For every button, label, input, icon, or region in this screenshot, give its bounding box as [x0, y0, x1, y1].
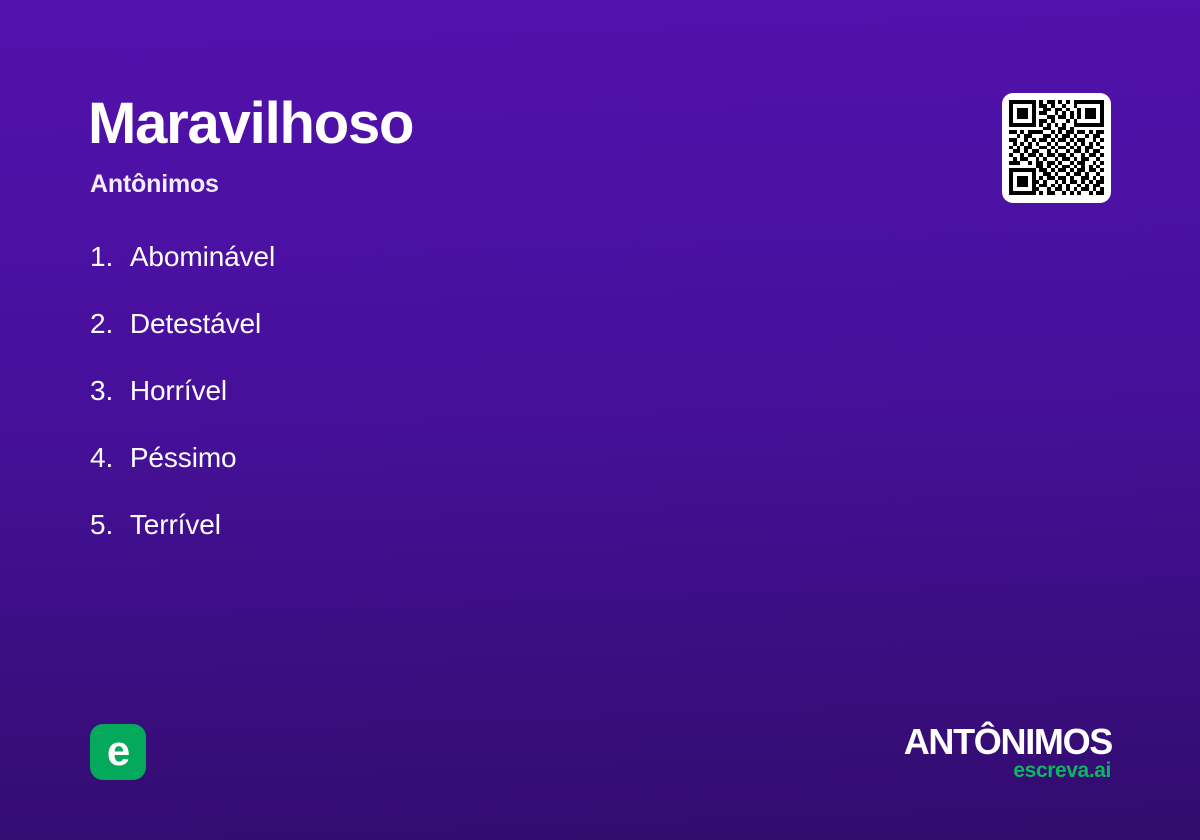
escreva-logo-glyph: e	[90, 724, 146, 780]
list-item: 5. Terrível	[90, 505, 790, 572]
list-item-label: Abominável	[130, 237, 275, 277]
list-item: 3. Horrível	[90, 371, 790, 438]
escreva-logo-icon[interactable]: e	[90, 724, 146, 780]
qr-code[interactable]	[1002, 93, 1111, 203]
antonym-list: 1. Abominável 2. Detestável 3. Horrível …	[90, 237, 790, 572]
wordmark: ANTÔNIMOS escreva.ai	[862, 722, 1112, 784]
list-item: 2. Detestável	[90, 304, 790, 371]
list-item: 1. Abominável	[90, 237, 790, 304]
page-subtitle: Antônimos	[90, 168, 219, 200]
wordmark-title: ANTÔNIMOS	[862, 722, 1112, 762]
list-item-index: 1.	[90, 237, 113, 277]
qr-code-matrix	[1009, 100, 1104, 195]
list-item-label: Terrível	[130, 505, 221, 545]
list-item: 4. Péssimo	[90, 438, 790, 505]
list-item-index: 2.	[90, 304, 113, 344]
list-item-index: 5.	[90, 505, 113, 545]
list-item-index: 4.	[90, 438, 113, 478]
antonym-card: Maravilhoso Antônimos 1. Abominável 2. D…	[0, 0, 1200, 840]
list-item-index: 3.	[90, 371, 113, 411]
wordmark-domain: escreva.ai	[861, 759, 1111, 783]
page-title: Maravilhoso	[88, 88, 413, 160]
list-item-label: Péssimo	[130, 438, 237, 478]
list-item-label: Horrível	[130, 371, 227, 411]
list-item-label: Detestável	[130, 304, 261, 344]
